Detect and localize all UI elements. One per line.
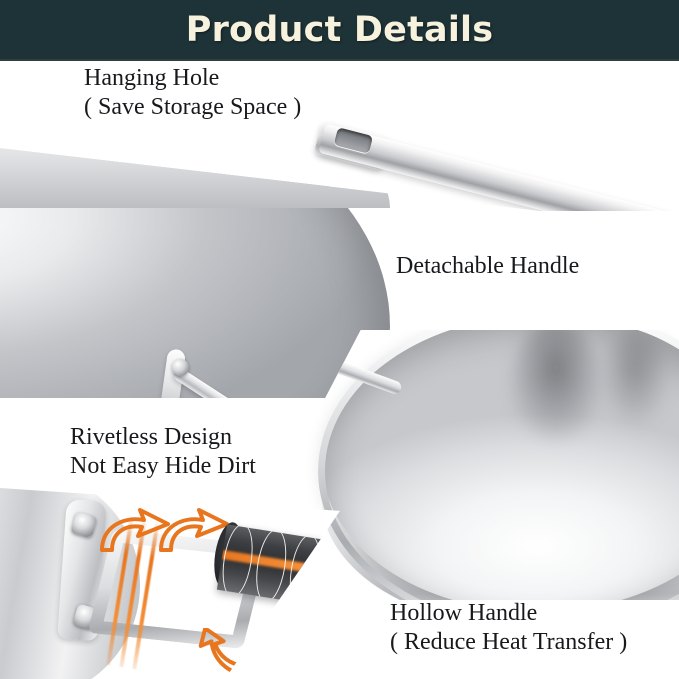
label-hanging-hole: Hanging Hole ( Save Storage Space ): [84, 64, 301, 123]
page-title: Product Details: [186, 10, 494, 50]
label-hollow-handle: Hollow Handle ( Reduce Heat Transfer ): [390, 599, 627, 658]
label-rivetless-design-line2: Not Easy Hide Dirt: [70, 452, 256, 481]
tube-spiral-ring-icon: [252, 527, 291, 604]
photo-rivetless-interior: [300, 330, 679, 600]
label-hollow-handle-line1: Hollow Handle: [390, 599, 627, 628]
label-rivetless-design-line1: Rivetless Design: [70, 423, 256, 452]
heat-arrow-inflow-icon: [178, 628, 252, 676]
product-details-infographic: Product Details: [0, 0, 679, 679]
label-detachable-handle: Detachable Handle: [396, 252, 579, 281]
label-detachable-handle-line1: Detachable Handle: [396, 252, 579, 281]
bracket-pivot-icon: [172, 359, 189, 376]
header-divider: [0, 59, 679, 61]
header-banner: Product Details: [0, 0, 679, 59]
label-hanging-hole-line2: ( Save Storage Space ): [84, 93, 301, 122]
label-hollow-handle-line2: ( Reduce Heat Transfer ): [390, 628, 627, 657]
label-hanging-hole-line1: Hanging Hole: [84, 64, 301, 93]
label-rivetless-design: Rivetless Design Not Easy Hide Dirt: [70, 423, 256, 482]
pan-inner-rim-shape: [318, 330, 679, 600]
